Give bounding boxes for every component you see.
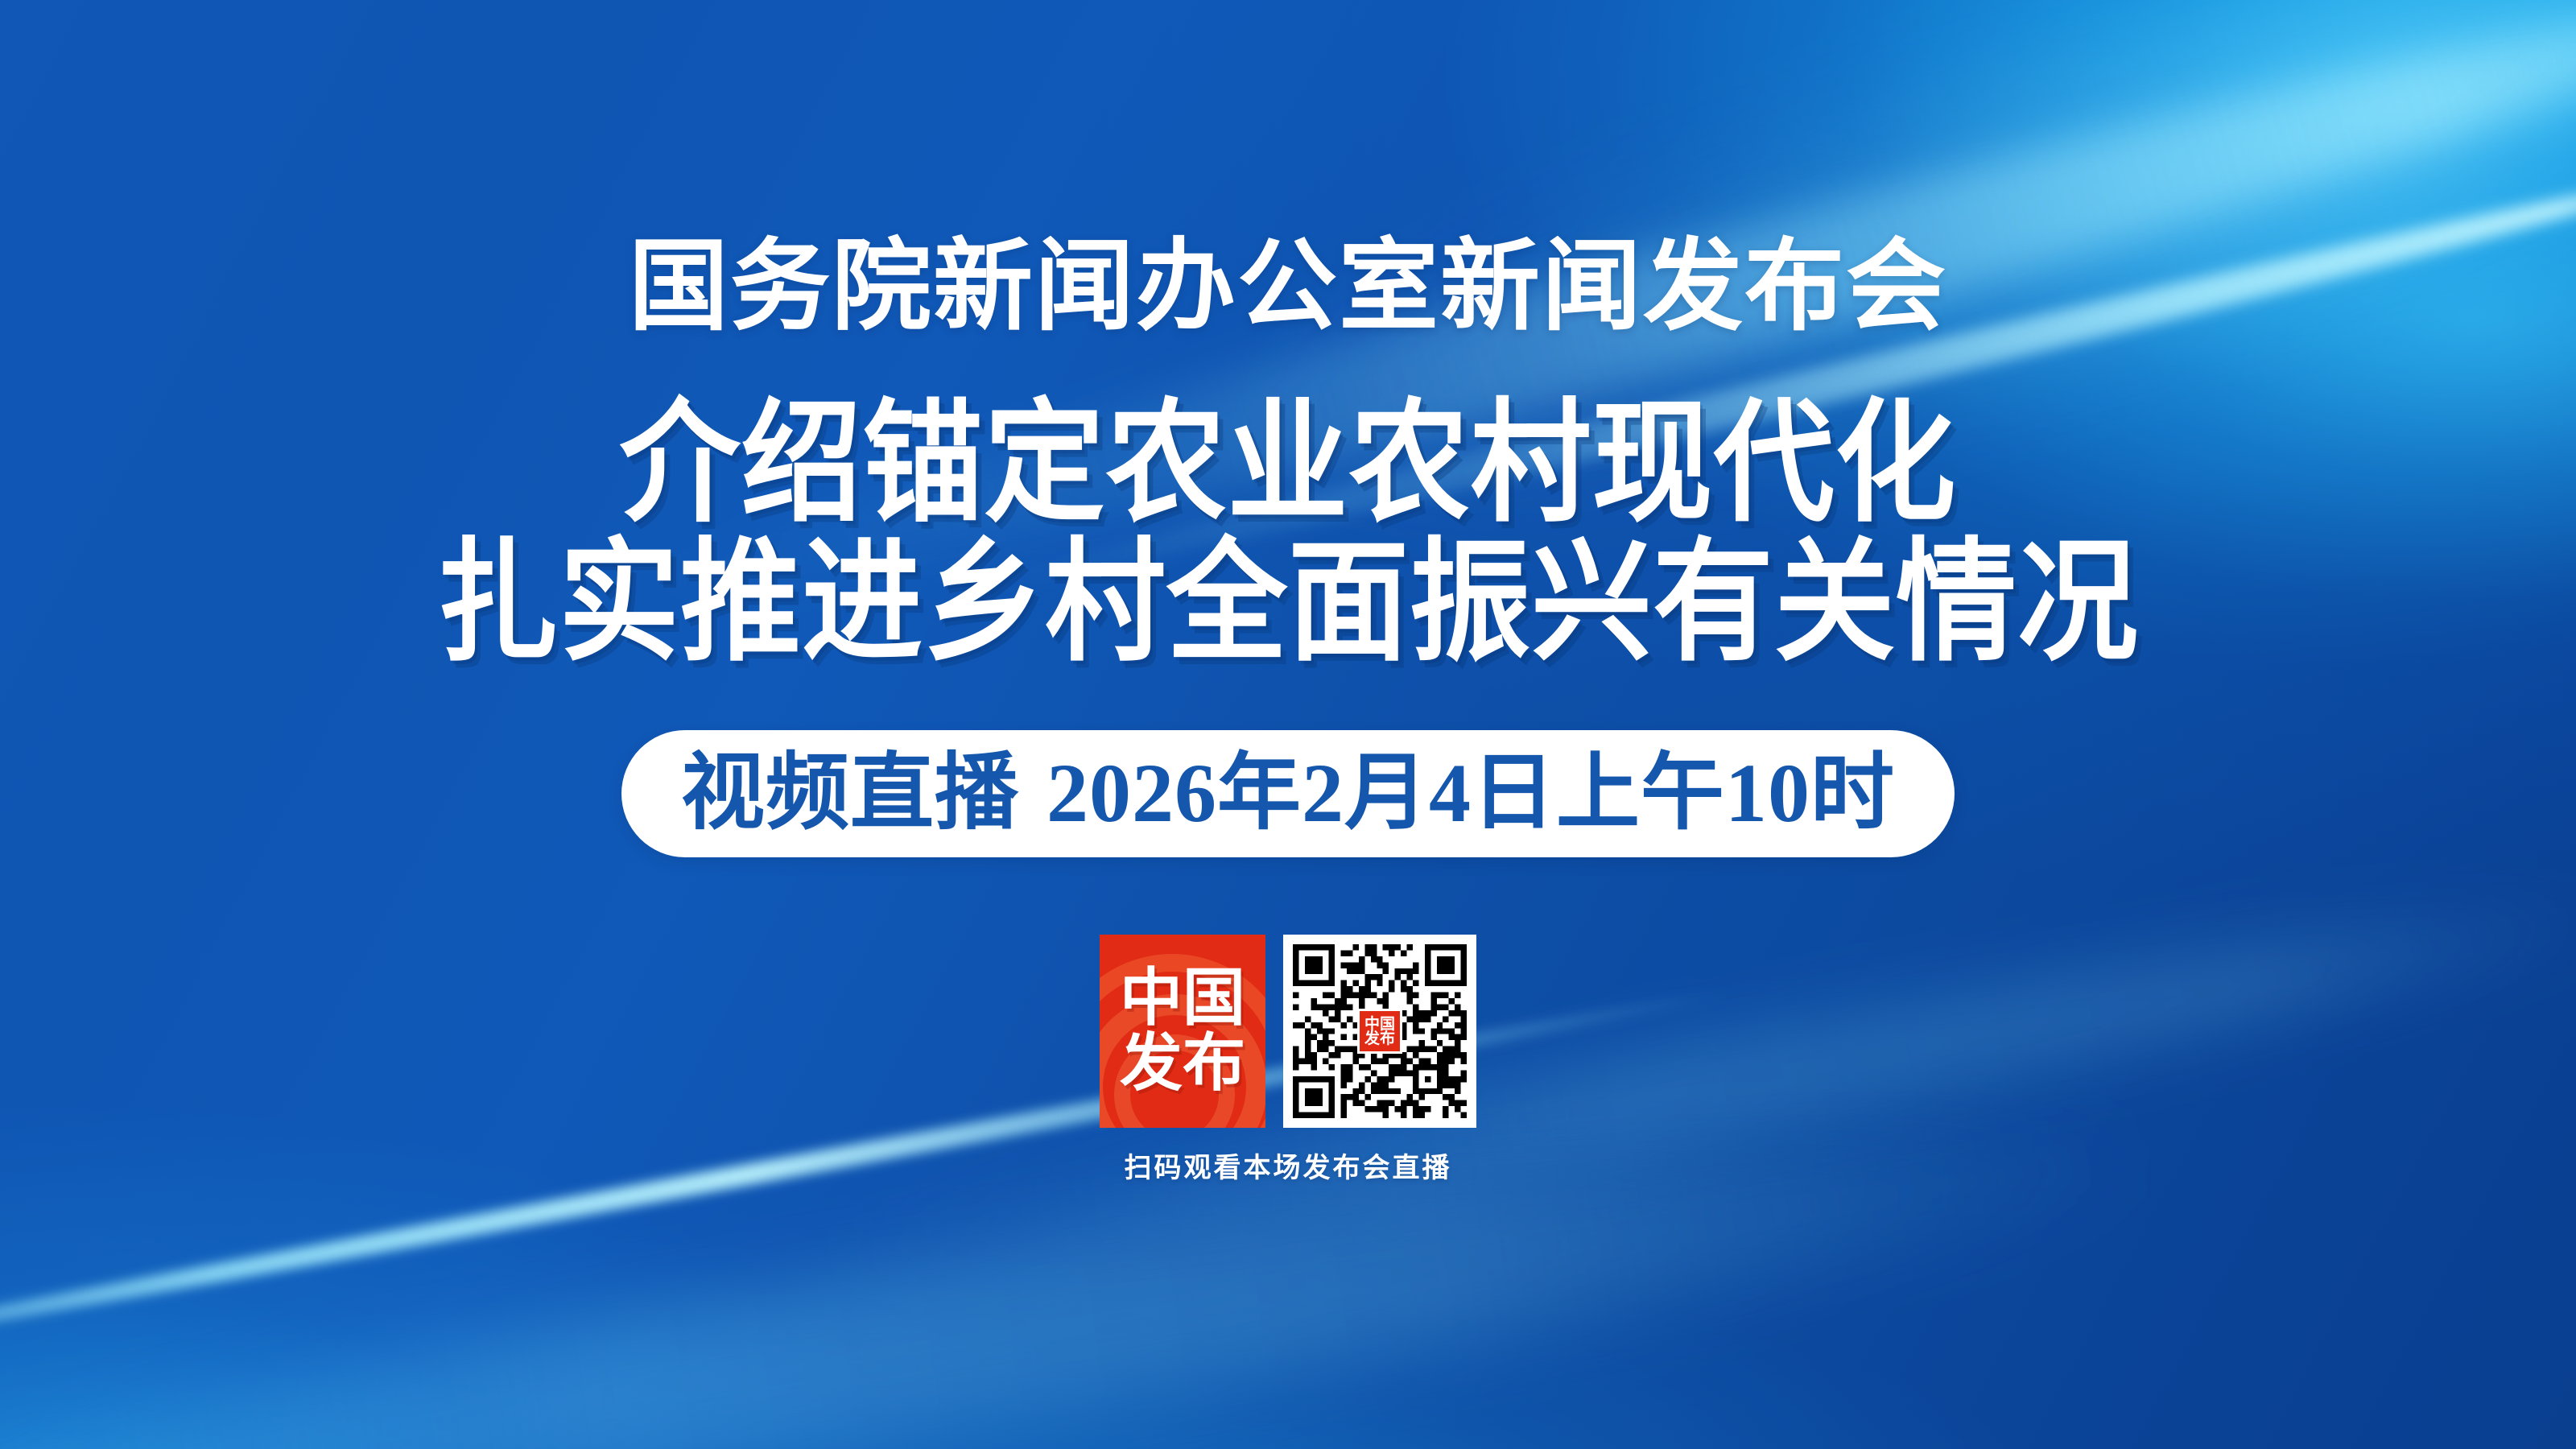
qr-code-canvas: 中国 发布 — [1293, 944, 1467, 1118]
scan-to-watch-caption: 扫码观看本场发布会直播 — [1125, 1146, 1452, 1185]
live-stream-badge[interactable]: 视频直播2026年2月4日上午10时 — [621, 730, 1955, 857]
headline-line-1: 介绍锚定农业农村现代化 — [619, 394, 1956, 535]
logo-text-line-2: 发布 — [1120, 1034, 1245, 1094]
headline-line-2: 扎实推进乡村全面振兴有关情况 — [437, 533, 2139, 674]
live-stream-badge-text: 视频直播2026年2月4日上午10时 — [681, 752, 1895, 836]
china-release-logo: 中国 发布 — [1100, 935, 1265, 1128]
qr-center-logo: 中国 发布 — [1357, 1009, 1402, 1054]
qr-logo-line-2: 发布 — [1364, 1031, 1395, 1046]
live-stream-label: 视频直播 — [681, 747, 1019, 840]
qr-code[interactable]: 中国 发布 — [1283, 935, 1476, 1128]
poster-footer: 中国 发布 中国 发布 — [1100, 935, 1476, 1185]
brand-and-qr-row: 中国 发布 中国 发布 — [1100, 935, 1476, 1128]
logo-text-line-1: 中国 — [1120, 968, 1245, 1029]
live-stream-datetime: 2026年2月4日上午10时 — [1046, 747, 1895, 840]
press-conference-poster: 国务院新闻办公室新闻发布会 介绍锚定农业农村现代化 扎实推进乡村全面振兴有关情况… — [0, 0, 2576, 1449]
headline-block: 介绍锚定农业农村现代化 扎实推进乡村全面振兴有关情况 — [437, 394, 2139, 661]
organization-title: 国务院新闻办公室新闻发布会 — [629, 237, 1947, 337]
poster-content: 国务院新闻办公室新闻发布会 介绍锚定农业农村现代化 扎实推进乡村全面振兴有关情况… — [0, 0, 2576, 1449]
